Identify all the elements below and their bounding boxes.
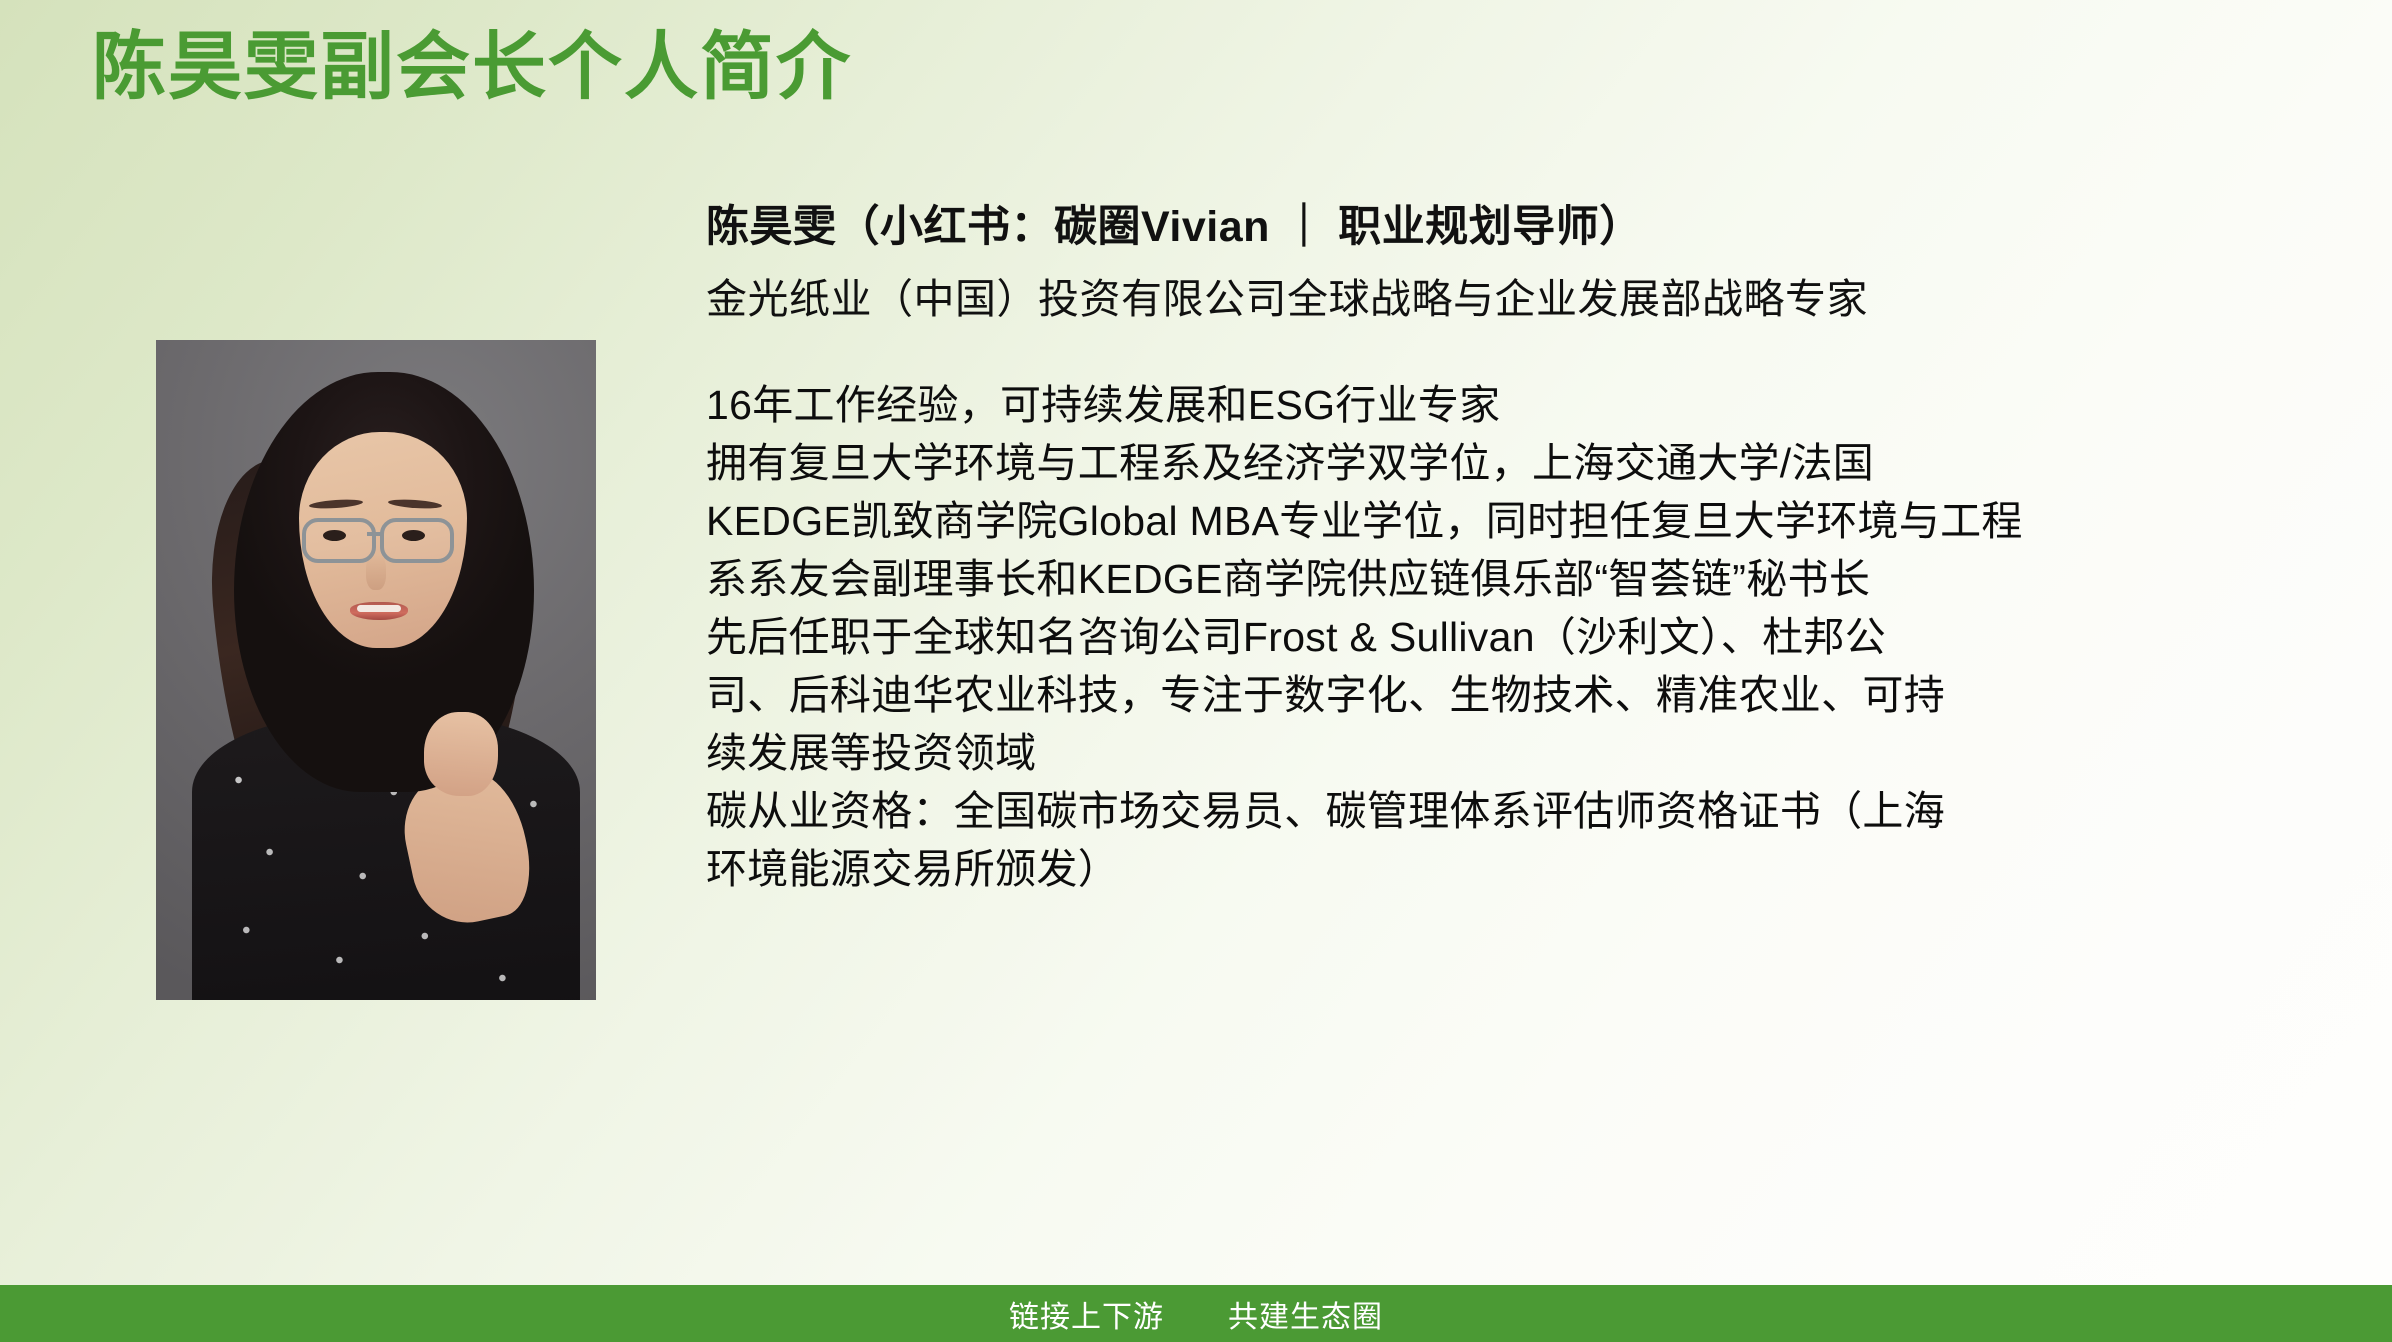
- bio-line-6: 司、后科迪华农业科技，专注于数字化、生物技术、精准农业、可持: [706, 666, 2326, 724]
- glasses-bridge: [367, 532, 383, 536]
- hand: [424, 712, 498, 796]
- bio-line-1: 16年工作经验，可持续发展和ESG行业专家: [706, 376, 2326, 434]
- nose: [366, 554, 386, 590]
- bio-line-8: 碳从业资格：全国碳市场交易员、碳管理体系评估师资格证书（上海: [706, 782, 2326, 840]
- bio-line-7: 续发展等投资领域: [706, 724, 2326, 782]
- bio-line-2: 拥有复旦大学环境与工程系及经济学双学位，上海交通大学/法国: [706, 434, 2326, 492]
- portrait-photo: [156, 340, 596, 1000]
- bio-line-9: 环境能源交易所颁发）: [706, 840, 2326, 898]
- eye-left: [323, 530, 346, 541]
- eye-right: [402, 530, 425, 541]
- footer-slogan-left: 链接上下游: [1009, 1292, 1164, 1336]
- bio-text-block: 陈昊雯（小红书：碳圈Vivian ｜ 职业规划导师） 金光纸业（中国）投资有限公…: [706, 206, 2326, 898]
- footer-bar: 链接上下游 共建生态圈: [0, 1285, 2392, 1342]
- bio-line-4: 系系友会副理事长和KEDGE商学院供应链俱乐部“智荟链”秘书长: [706, 550, 2326, 608]
- footer-slogan-right: 共建生态圈: [1228, 1292, 1383, 1336]
- slide-canvas: 陈昊雯副会长个人简介 陈昊雯（小红书：碳圈Vivian ｜ 职业规划导师） 金光…: [0, 0, 2392, 1342]
- bio-heading: 陈昊雯（小红书：碳圈Vivian ｜ 职业规划导师）: [706, 206, 2326, 249]
- bio-line-5: 先后任职于全球知名咨询公司Frost & Sullivan（沙利文）、杜邦公: [706, 608, 2326, 666]
- page-title: 陈昊雯副会长个人简介: [92, 26, 852, 107]
- teeth: [357, 605, 401, 612]
- bio-line-3: KEDGE凯致商学院Global MBA专业学位，同时担任复旦大学环境与工程: [706, 492, 2326, 550]
- bio-subheading: 金光纸业（中国）投资有限公司全球战略与企业发展部战略专家: [706, 279, 2326, 320]
